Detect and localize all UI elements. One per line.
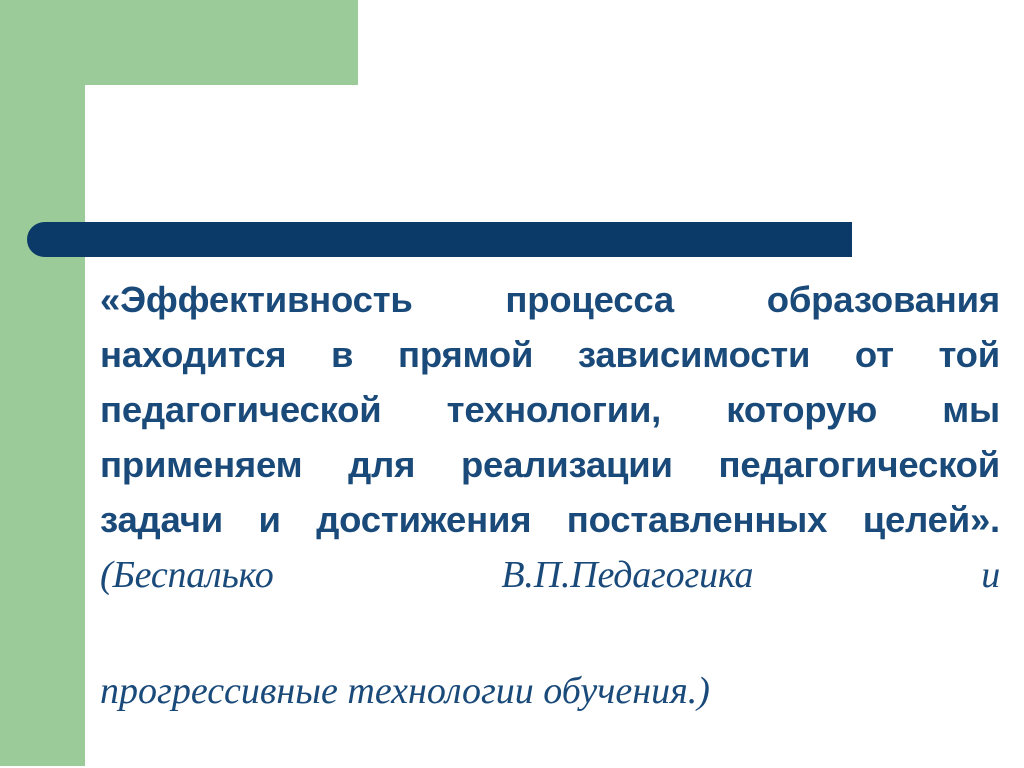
quote-text-block: «Эффективность процесса образования нахо… (100, 272, 1000, 719)
quote-attribution-first-line: (Беспалько В.П.Педагогика и (100, 554, 1000, 596)
presentation-slide: «Эффективность процесса образования нахо… (0, 0, 1024, 768)
green-top-panel (85, 0, 358, 85)
green-side-panel (0, 0, 85, 766)
quote-attribution-second-line: прогрессивные технологии обучения.) (100, 664, 1000, 719)
quote-paragraph: «Эффективность процесса образования нахо… (100, 272, 1000, 658)
accent-divider-bar (27, 222, 852, 257)
quote-bold-text: «Эффективность процесса образования нахо… (100, 279, 1000, 540)
